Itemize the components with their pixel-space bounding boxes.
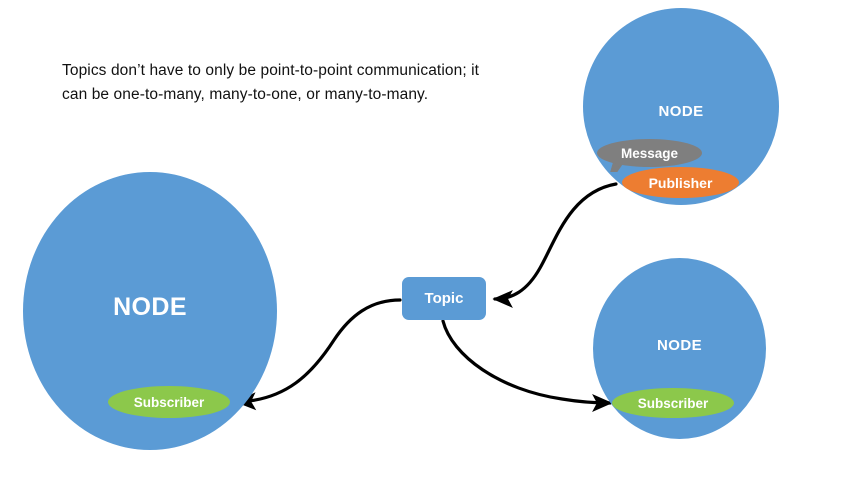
subscriber-right[interactable]: Subscriber: [612, 388, 734, 418]
caption-text: Topics don’t have to only be point-to-po…: [62, 59, 482, 107]
publisher-label: Publisher: [649, 175, 713, 191]
topic-box[interactable]: Topic: [402, 277, 486, 320]
subscriber-left[interactable]: Subscriber: [108, 386, 230, 418]
publisher[interactable]: Publisher: [622, 167, 739, 198]
message-callout[interactable]: Message: [597, 139, 702, 167]
message-label: Message: [621, 146, 678, 161]
node-left-label: NODE: [23, 293, 277, 322]
topic-label: Topic: [425, 290, 464, 307]
arrow-topic-to-subscriber-right: [443, 321, 610, 403]
diagram-canvas: Topics don’t have to only be point-to-po…: [0, 0, 854, 480]
arrow-publisher-to-topic: [495, 184, 616, 299]
subscriber-right-label: Subscriber: [638, 396, 709, 411]
node-bottom-right-label: NODE: [593, 337, 766, 354]
subscriber-left-label: Subscriber: [134, 395, 205, 410]
node-top-right-label: NODE: [583, 103, 779, 120]
